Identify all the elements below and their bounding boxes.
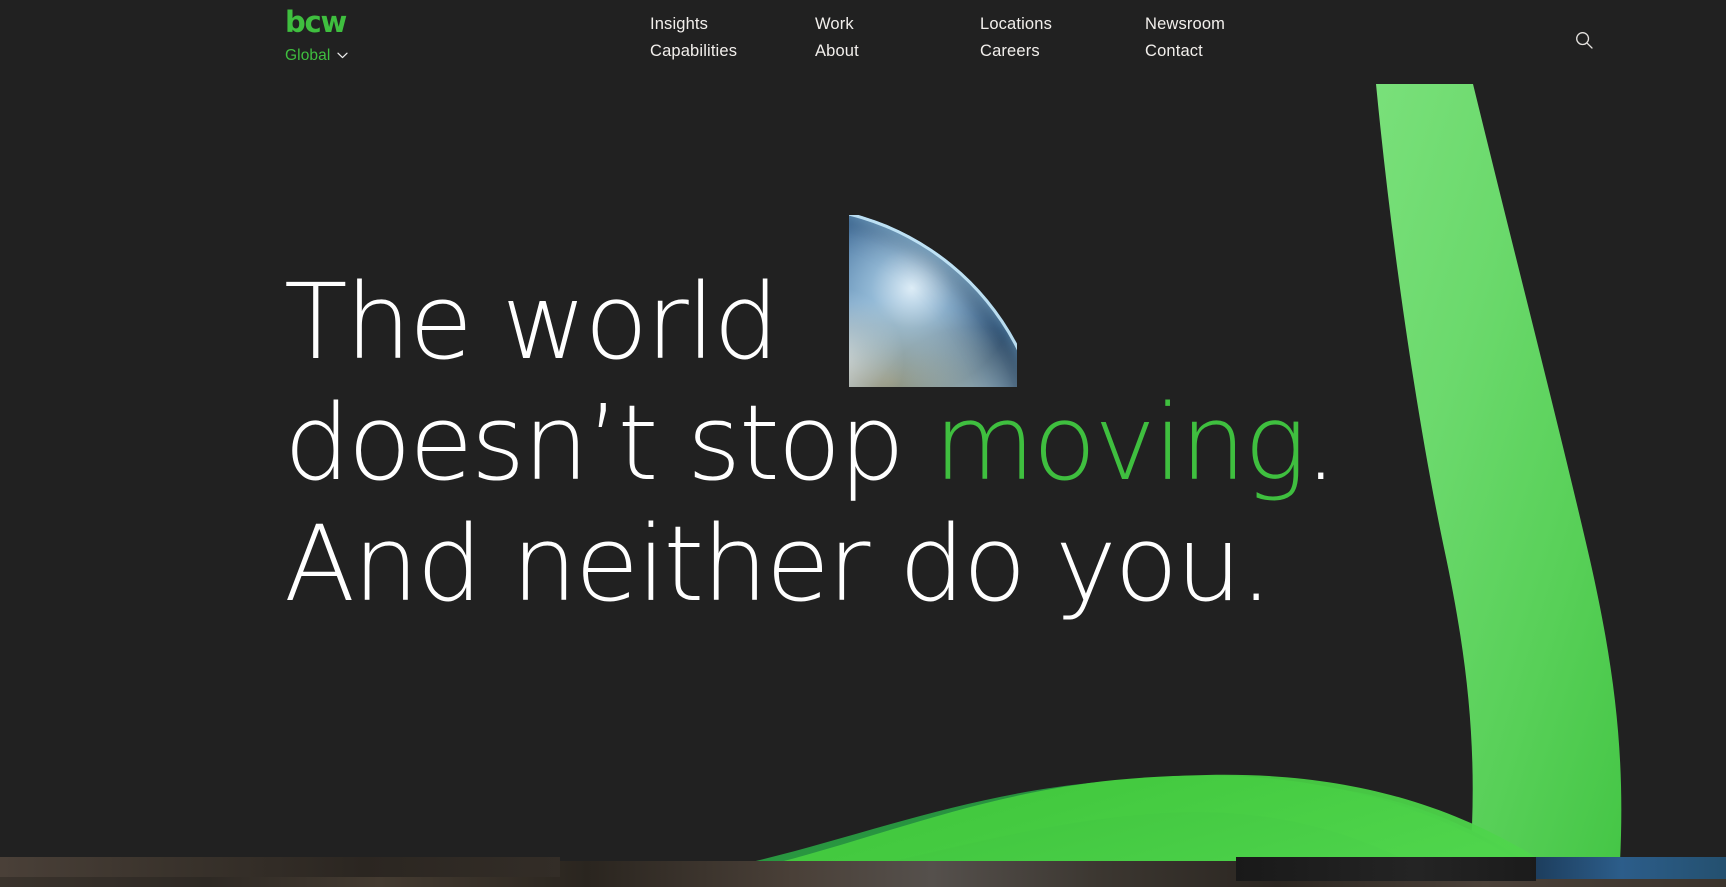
headline-line-2: doesn’t stop moving. [284, 383, 1404, 504]
region-label: Global [285, 48, 330, 64]
nav-column-2: Work About [815, 14, 980, 61]
nav-column-1: Insights Capabilities [650, 14, 815, 61]
green-ribbon-vertical [1376, 84, 1621, 862]
brand-block: bcw Global [285, 8, 465, 64]
bottom-photo-strip-left [0, 857, 560, 877]
nav-item-capabilities[interactable]: Capabilities [650, 41, 737, 61]
search-icon [1574, 30, 1594, 50]
nav-item-contact[interactable]: Contact [1145, 41, 1203, 61]
bottom-photo-strip-dark [1236, 857, 1536, 881]
headline-period: . [1304, 382, 1335, 504]
headline-accent-moving: moving [934, 382, 1305, 504]
bottom-photo-strip-blue [1536, 857, 1726, 879]
site-header: bcw Global Insights Capabilities Work Ab… [0, 0, 1726, 78]
nav-column-3: Locations Careers [980, 14, 1145, 61]
page-title: The world doesn’t stop moving. And neith… [284, 262, 1404, 625]
nav-item-locations[interactable]: Locations [980, 14, 1052, 34]
nav-item-insights[interactable]: Insights [650, 14, 708, 34]
nav-column-4: Newsroom Contact [1145, 14, 1310, 61]
nav-item-newsroom[interactable]: Newsroom [1145, 14, 1225, 34]
chevron-down-icon [337, 52, 348, 59]
headline-line-2-text: doesn’t stop [284, 382, 934, 504]
hero-section: The world doesn’t stop moving. And neith… [0, 0, 1726, 887]
nav-item-work[interactable]: Work [815, 14, 854, 34]
page-root: bcw Global Insights Capabilities Work Ab… [0, 0, 1726, 887]
headline-line-1: The world [284, 262, 1404, 383]
nav-item-careers[interactable]: Careers [980, 41, 1040, 61]
search-button[interactable] [1570, 26, 1598, 54]
logo-bcw[interactable]: bcw [285, 8, 465, 37]
region-selector[interactable]: Global [285, 48, 348, 64]
headline-line-3: And neither do you. [284, 504, 1404, 625]
nav-item-about[interactable]: About [815, 41, 859, 61]
primary-navigation: Insights Capabilities Work About Locatio… [650, 14, 1310, 61]
